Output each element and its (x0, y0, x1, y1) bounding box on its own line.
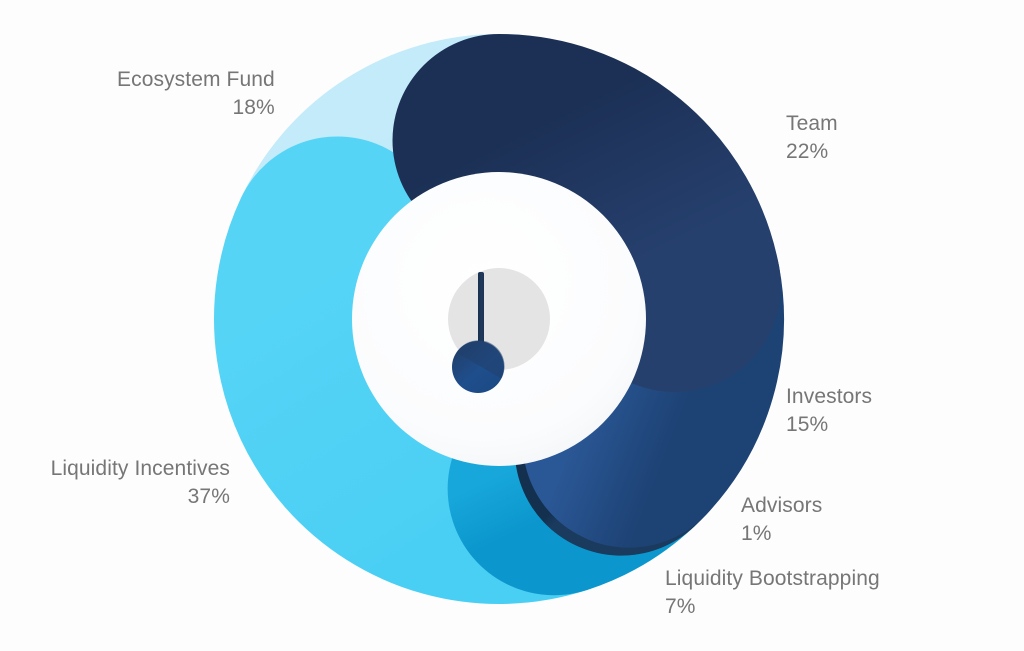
slice-label-team-name: Team (786, 112, 838, 135)
slice-label-liquidity-incentives: Liquidity Incentives 37% (51, 455, 230, 511)
slice-label-investors: Investors 15% (786, 383, 872, 439)
slice-label-ecosystem-fund-percent: 18% (117, 94, 275, 122)
slice-label-investors-name: Investors (786, 385, 872, 408)
slice-label-advisors-name: Advisors (741, 494, 822, 517)
slice-label-liquidity-incentives-percent: 37% (51, 483, 230, 511)
slice-label-ecosystem-fund: Ecosystem Fund 18% (117, 66, 275, 122)
slice-label-liquidity-incentives-name: Liquidity Incentives (51, 457, 230, 480)
slice-label-ecosystem-fund-name: Ecosystem Fund (117, 68, 275, 91)
slice-label-team: Team 22% (786, 110, 838, 166)
slice-label-liquidity-bootstrapping-percent: 7% (665, 593, 880, 621)
slice-label-advisors: Advisors 1% (741, 492, 822, 548)
slice-label-team-percent: 22% (786, 138, 838, 166)
slice-label-liquidity-bootstrapping: Liquidity Bootstrapping 7% (665, 565, 880, 621)
slice-label-liquidity-bootstrapping-name: Liquidity Bootstrapping (665, 567, 880, 590)
slice-label-advisors-percent: 1% (741, 520, 822, 548)
donut-chart: Ecosystem Fund 18% Team 22% Investors 15… (0, 0, 1024, 651)
slice-label-investors-percent: 15% (786, 411, 872, 439)
